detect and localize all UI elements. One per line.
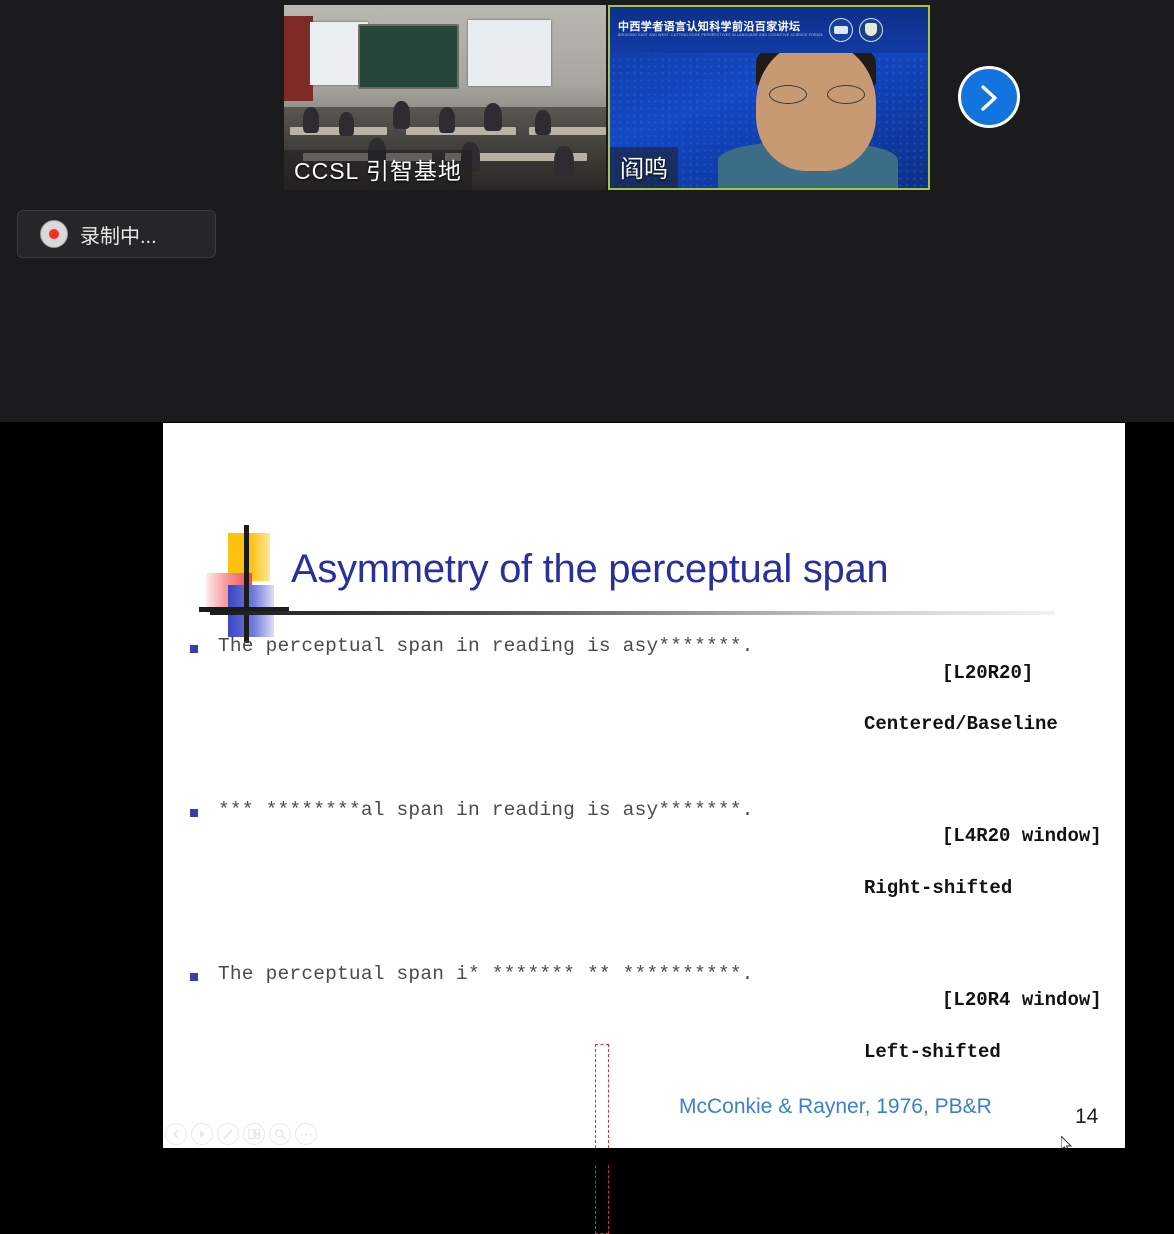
bullet-condition: [L20R4 window] Left-shifted [828,963,1102,1117]
more-options-button[interactable] [295,1123,317,1145]
bullet-item: The perceptual span i* ******* ** ******… [190,963,1110,1117]
bullet-condition: [L20R20] Centered/Baseline [828,635,1058,789]
next-slide-button[interactable] [191,1123,213,1145]
condition-description: Left-shifted [828,1040,1102,1066]
slide-page-number: 14 [1075,1105,1098,1129]
record-dot-icon [40,220,68,248]
classroom-attendee [535,110,551,135]
condition-code: [L4R20 window] [942,825,1102,847]
pen-tool-button[interactable] [217,1123,239,1145]
bullet-sentence: The perceptual span in reading is asy***… [218,635,828,657]
recording-label: 录制中... [80,220,157,249]
university-logo-icon [829,18,853,42]
bottom-bar [0,1148,1174,1164]
more-options-icon [299,1132,313,1137]
condition-description: Right-shifted [828,876,1102,902]
zoom-icon [274,1128,287,1141]
next-participants-button[interactable] [958,66,1020,128]
classroom-attendee [303,107,319,133]
partner-crest-icon [859,18,883,42]
classroom-attendee [393,101,410,129]
participant-tile-classroom[interactable]: CCSL 引智基地 [284,5,606,190]
classroom-attendee [339,112,354,136]
slide-menu-button[interactable] [243,1123,265,1145]
forum-banner-english: BRIDGING EAST AND WEST: CUTTING-EDGE PER… [618,34,823,38]
slide-citation: McConkie & Rayner, 1976, PB&R [679,1095,992,1119]
shared-screen-stage: Asymmetry of the perceptual span The per… [0,422,1174,1164]
glasses-icon [769,85,865,102]
recording-indicator[interactable]: 录制中... [17,210,216,258]
previous-slide-button[interactable] [165,1123,187,1145]
bullet-item: *** ********al span in reading is asy***… [190,799,1110,953]
participant-video-strip: CCSL 引智基地 中西学者语言认知科学前沿百家讲坛 BRIDGING EAST… [284,5,932,190]
meeting-video-bar: CCSL 引智基地 中西学者语言认知科学前沿百家讲坛 BRIDGING EAST… [0,0,1174,422]
bullet-item: The perceptual span in reading is asy***… [190,635,1110,789]
speaker-head [756,41,876,171]
chalkboard [358,24,459,89]
slide-menu-icon [248,1128,261,1140]
slide-bullet-list: The perceptual span in reading is asy***… [190,635,1110,1127]
bullet-sentence: The perceptual span i* ******* ** ******… [218,963,828,985]
slide-title: Asymmetry of the perceptual span [291,547,888,592]
participant-tile-speaker[interactable]: 中西学者语言认知科学前沿百家讲坛 BRIDGING EAST AND WEST:… [608,5,930,190]
classroom-attendee [484,103,502,131]
bullet-condition: [L4R20 window] Right-shifted [828,799,1102,953]
classroom-door [284,16,313,101]
condition-code: [L20R4 window] [942,989,1102,1011]
condition-code: [L20R20] [942,662,1033,684]
classroom-attendee [439,107,455,133]
zoom-button[interactable] [269,1123,291,1145]
pen-icon [222,1128,235,1141]
bullet-square-icon [190,973,198,981]
slide-decoration-logo [206,533,292,637]
presentation-slide: Asymmetry of the perceptual span The per… [163,423,1125,1149]
forum-banner: 中西学者语言认知科学前沿百家讲坛 BRIDGING EAST AND WEST:… [610,7,928,53]
previous-slide-icon [170,1128,182,1140]
bullet-square-icon [190,809,198,817]
classroom-attendee [554,146,574,178]
next-slide-icon [196,1128,208,1140]
tile-label-classroom: CCSL 引智基地 [284,150,472,190]
title-underline [210,611,1055,615]
tile-label-speaker: 阎鸣 [610,147,678,188]
condition-description: Centered/Baseline [828,712,1058,738]
bullet-square-icon [190,645,198,653]
slideshow-toolbar[interactable] [165,1123,317,1145]
fixation-window-marker [595,1044,609,1234]
projection-screen-right [468,20,552,87]
bullet-sentence: *** ********al span in reading is asy***… [218,799,828,821]
